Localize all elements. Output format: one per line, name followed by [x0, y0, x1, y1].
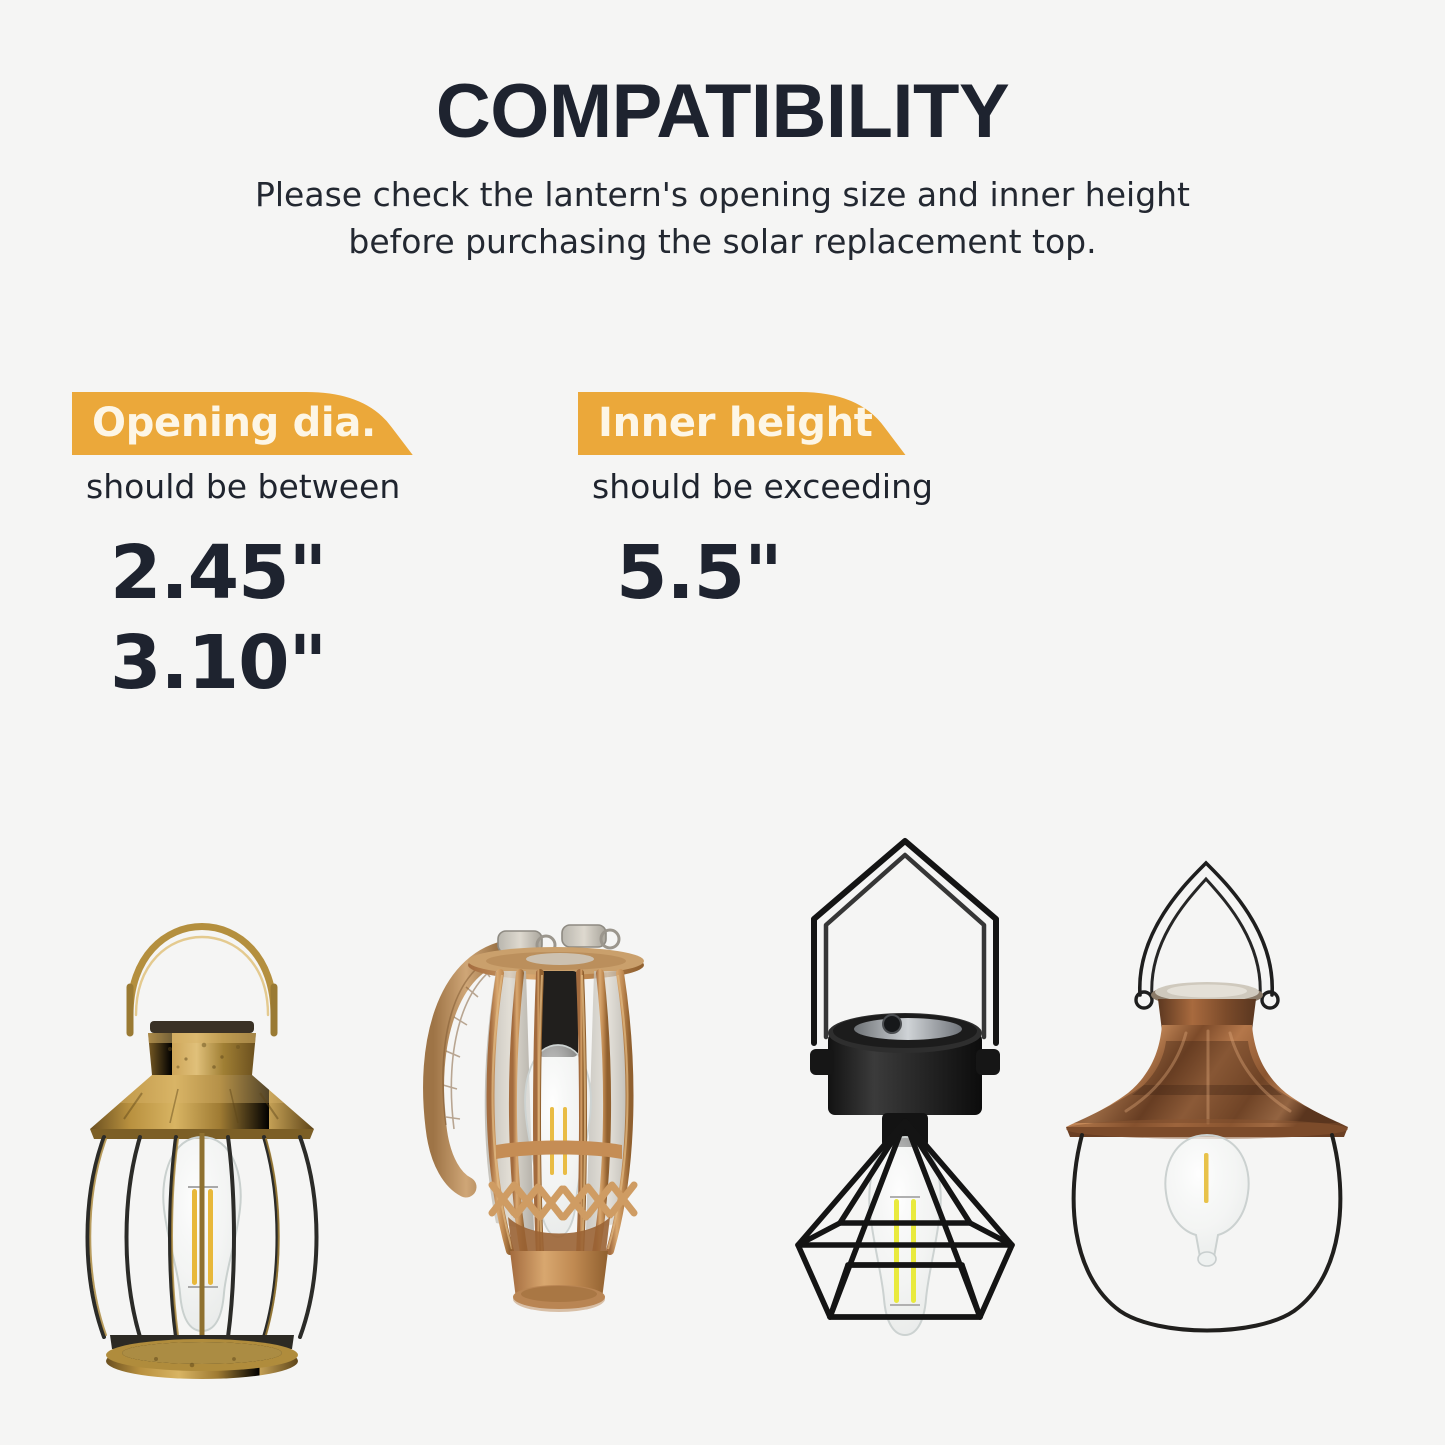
spec-column-opening-dia: Opening dia. should be between 2.45" 3.1…	[72, 392, 542, 709]
spec-qualifier-opening-dia: should be between	[72, 455, 542, 506]
copper-bell-shade-solar-lantern-icon	[1048, 835, 1368, 1335]
lantern-rattan-bamboo	[410, 895, 690, 1385]
lantern-gallery	[0, 760, 1445, 1445]
antique-bronze-cage-lantern-icon	[52, 837, 352, 1417]
specs-section: Opening dia. should be between 2.45" 3.1…	[0, 392, 1445, 722]
lantern-black-geometric	[780, 825, 1030, 1355]
rattan-bamboo-rope-lantern-icon	[410, 895, 690, 1385]
header: COMPATIBILITY Please check the lantern's…	[0, 0, 1445, 266]
spec-value-min-height: 5.5"	[616, 528, 1048, 618]
lantern-antique-bronze	[52, 837, 352, 1417]
spec-qualifier-inner-height: should be exceeding	[578, 455, 1048, 506]
spec-values-inner-height: 5.5"	[578, 506, 1048, 618]
black-geometric-solar-lantern-icon	[780, 825, 1030, 1355]
page-title: COMPATIBILITY	[0, 0, 1445, 152]
badge-label-opening-dia: Opening dia.	[72, 392, 417, 455]
spec-values-opening-dia: 2.45" 3.10"	[72, 506, 542, 709]
page-subtitle: Please check the lantern's opening size …	[223, 152, 1223, 266]
subtitle-line-1: Please check the lantern's opening size …	[223, 172, 1223, 219]
subtitle-line-2: before purchasing the solar replacement …	[223, 219, 1223, 266]
badge-label-inner-height: Inner height	[578, 392, 908, 455]
spec-value-min: 2.45"	[110, 528, 542, 618]
lantern-copper-bell	[1048, 835, 1368, 1335]
spec-value-max: 3.10"	[110, 618, 542, 708]
badge-opening-dia: Opening dia.	[72, 392, 417, 455]
badge-inner-height: Inner height	[578, 392, 908, 455]
spec-column-inner-height: Inner height should be exceeding 5.5"	[578, 392, 1048, 618]
